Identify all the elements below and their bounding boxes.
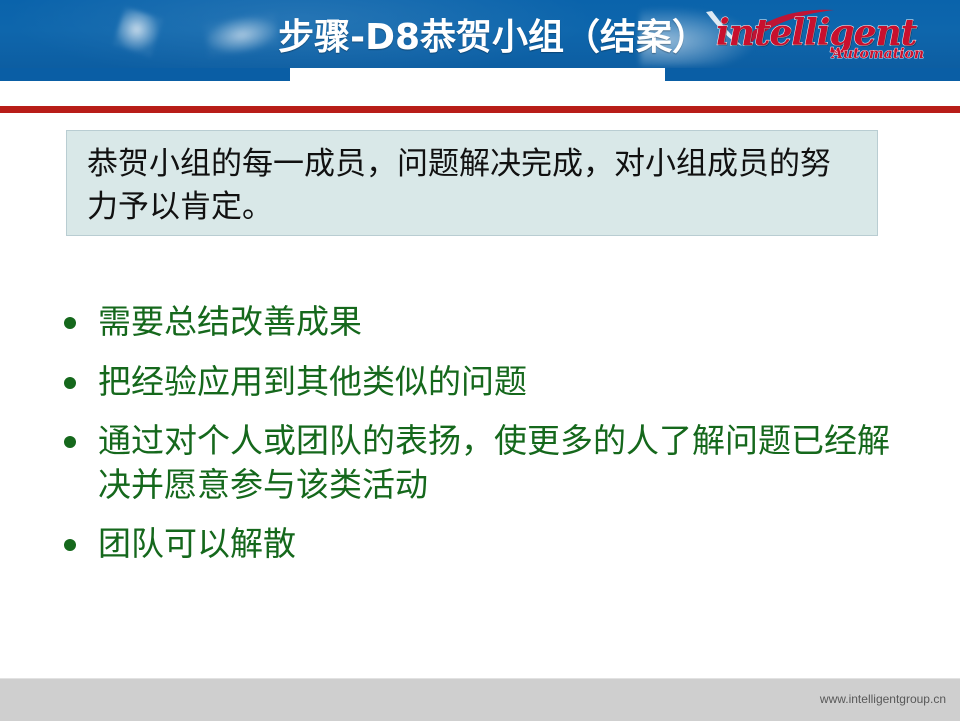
header-strip-left xyxy=(0,68,290,81)
footer-bar: www.intelligentgroup.cn xyxy=(0,678,960,721)
bullet-text: 团队可以解散 xyxy=(98,522,918,566)
bullet-list: 需要总结改善成果 把经验应用到其他类似的问题 通过对个人或团队的表扬，使更多的人… xyxy=(58,300,918,582)
slide-canvas: 步骤-D8恭贺小组（结案） intelligent Automation 恭贺小… xyxy=(0,0,960,720)
header-divider-rule xyxy=(0,106,960,113)
bullet-dot-icon xyxy=(64,436,76,448)
list-item: 通过对个人或团队的表扬，使更多的人了解问题已经解决并愿意参与该类活动 xyxy=(58,419,918,506)
header-strip-right xyxy=(665,68,960,81)
logo-tagline: Automation xyxy=(832,46,924,62)
bullet-dot-icon xyxy=(64,317,76,329)
company-logo: intelligent Automation xyxy=(700,6,952,68)
bullet-dot-icon xyxy=(64,539,76,551)
list-item: 需要总结改善成果 xyxy=(58,300,918,344)
bullet-dot-icon xyxy=(64,377,76,389)
callout-text: 恭贺小组的每一成员，问题解决完成，对小组成员的努力予以肯定。 xyxy=(87,143,859,229)
list-item: 把经验应用到其他类似的问题 xyxy=(58,360,918,404)
slide-title: 步骤-D8恭贺小组（结案） xyxy=(0,8,720,60)
list-item: 团队可以解散 xyxy=(58,522,918,566)
footer-url: www.intelligentgroup.cn xyxy=(820,692,946,706)
bullet-text: 需要总结改善成果 xyxy=(98,300,918,344)
bullet-text: 把经验应用到其他类似的问题 xyxy=(98,360,918,404)
bullet-text: 通过对个人或团队的表扬，使更多的人了解问题已经解决并愿意参与该类活动 xyxy=(98,419,918,506)
callout-box: 恭贺小组的每一成员，问题解决完成，对小组成员的努力予以肯定。 xyxy=(66,130,878,236)
